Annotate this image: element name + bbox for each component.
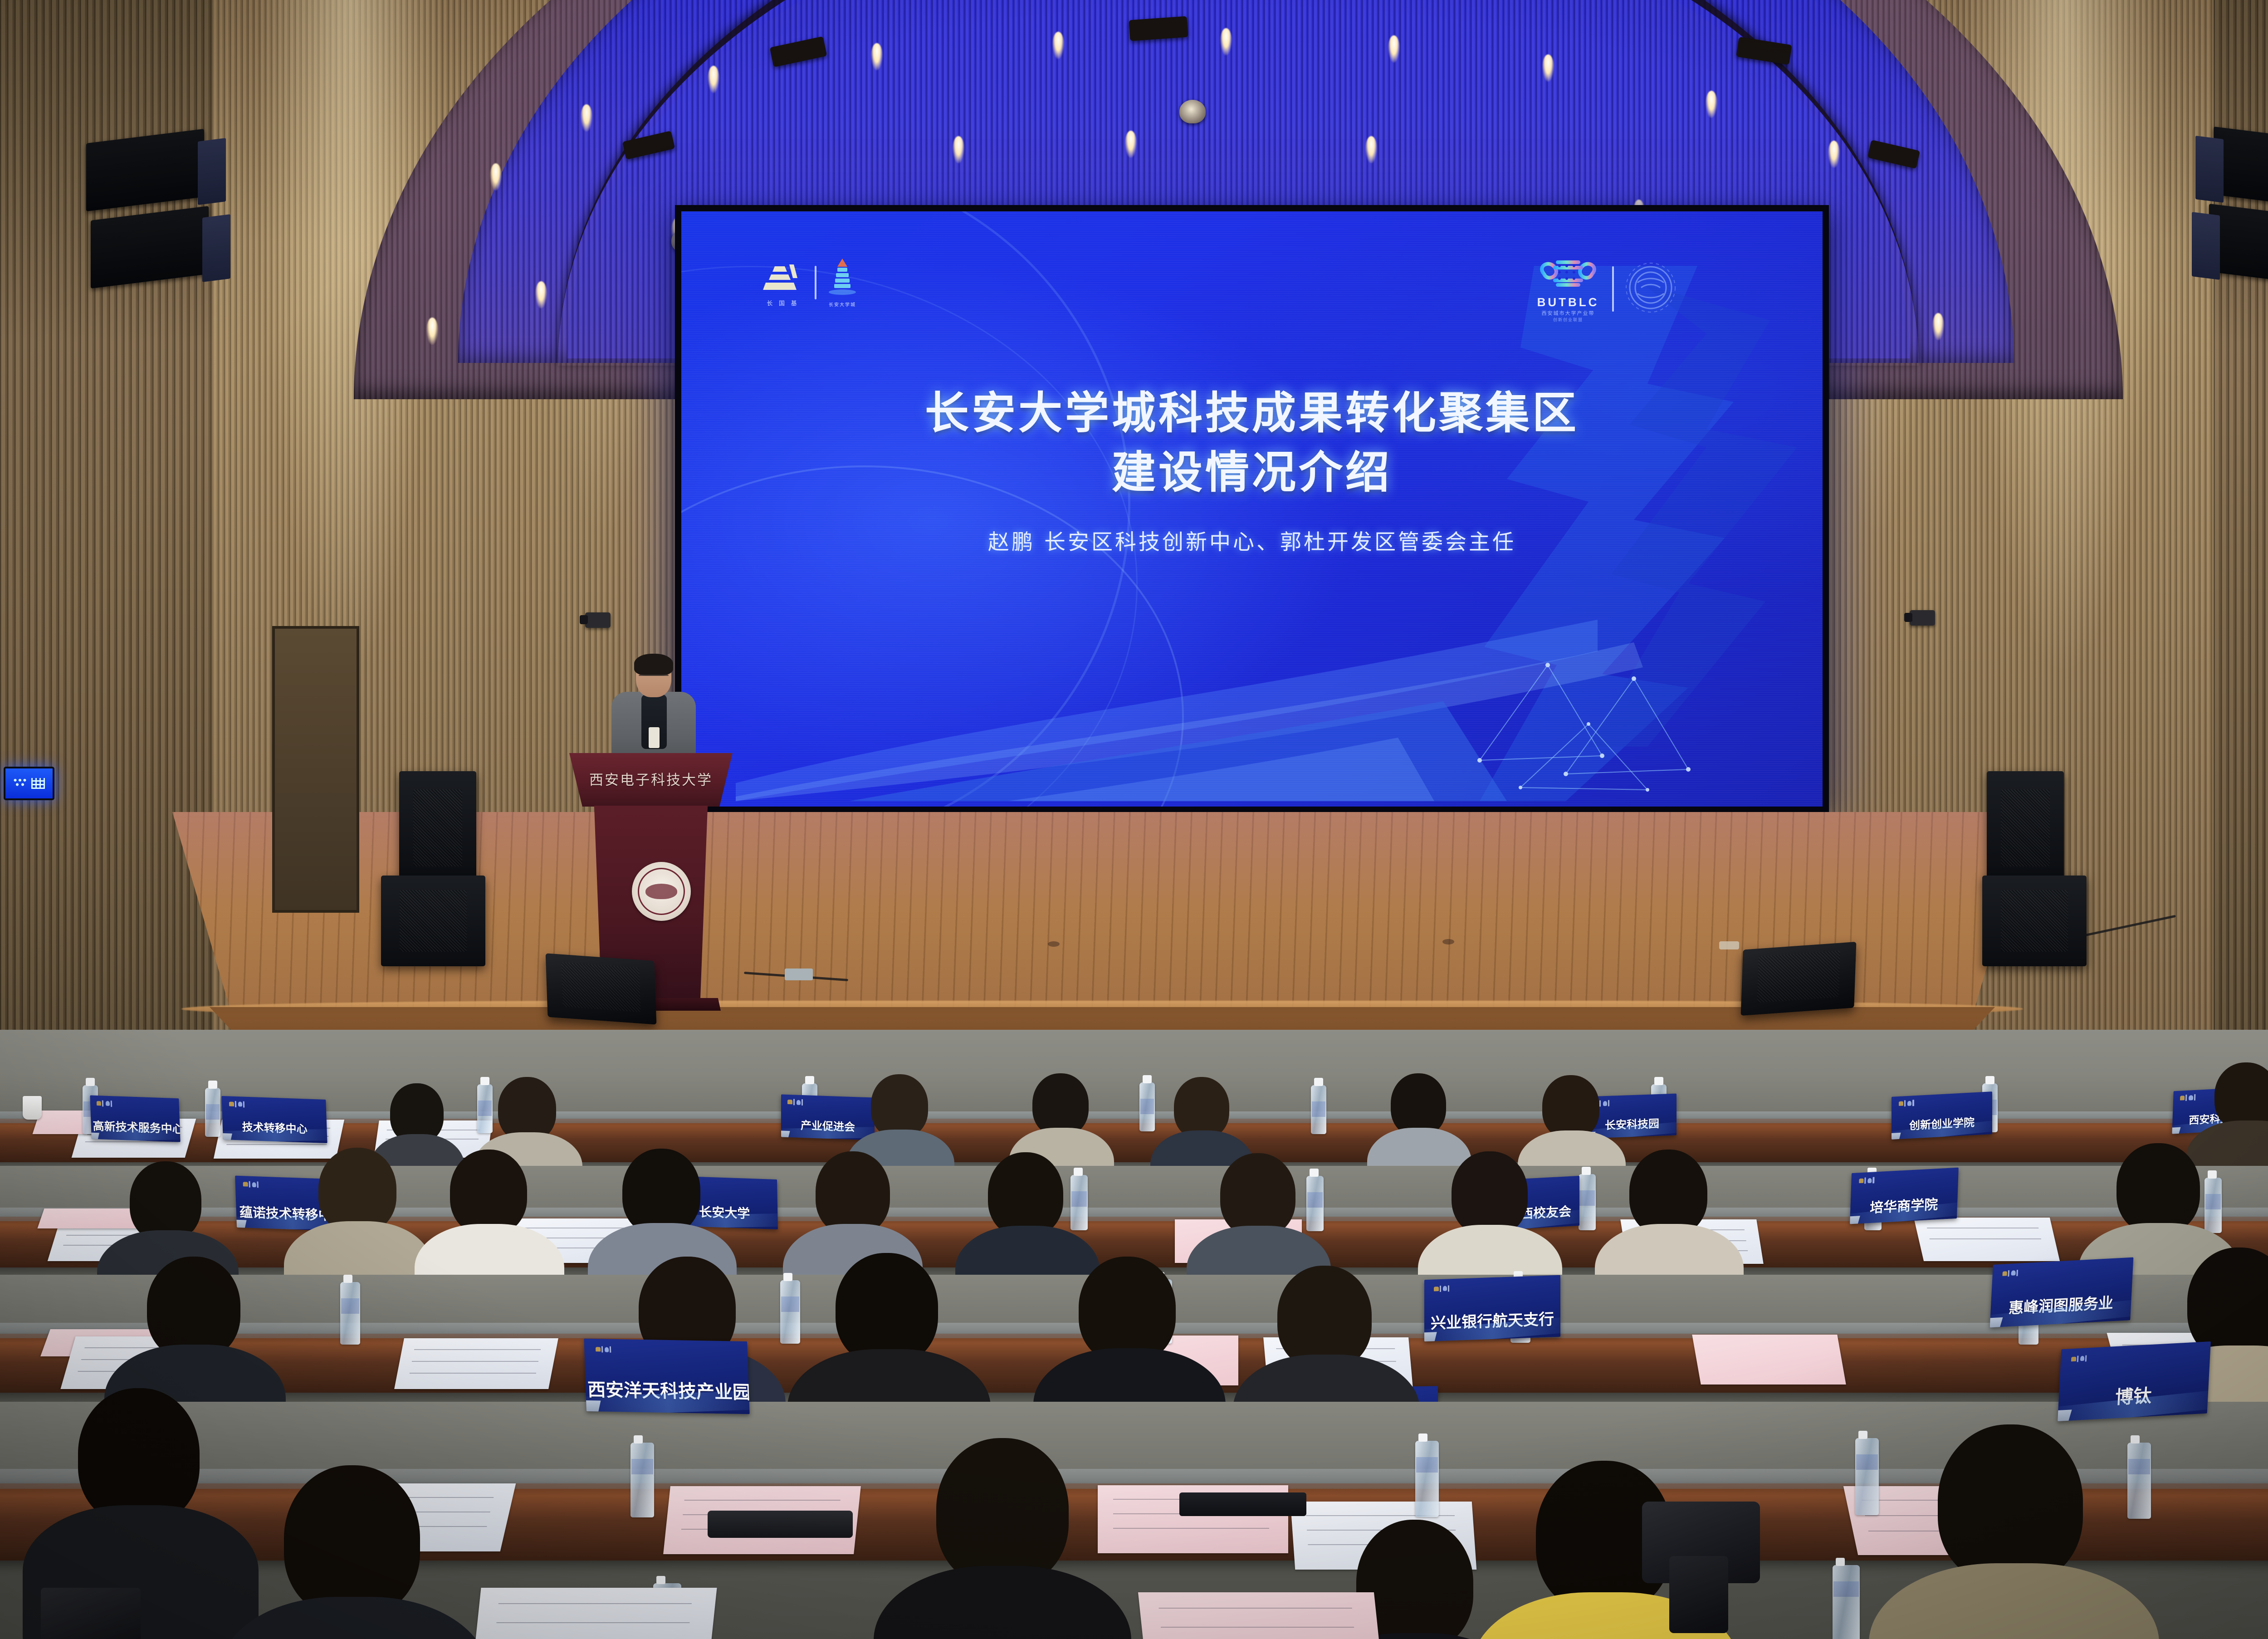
stage-floor-mark: [1719, 941, 1739, 949]
university-seal-emblem: [632, 862, 691, 921]
audience-person: [1601, 1150, 1737, 1296]
audience-person: [889, 1438, 1116, 1639]
side-speaker-right-upper: [1987, 771, 2064, 885]
table-placard: 技术转移中心: [221, 1096, 327, 1143]
water-bottle: [1855, 1438, 1879, 1515]
table-placard: 西安洋天科技产业园: [584, 1339, 749, 1414]
subwoofer-right: [1982, 876, 2087, 966]
table-placard: 惠峰润图服务业: [1990, 1257, 2134, 1328]
slide-subtitle: 赵鹏 长安区科技创新中心、郭杜开发区管委会主任: [681, 524, 1823, 556]
audience-person: [422, 1150, 558, 1295]
slide-logo-group-left: 长 国 基 长安大学城: [761, 258, 858, 308]
table-placard: 培华商学院: [1850, 1168, 1959, 1224]
document-sheet: [1692, 1335, 1846, 1385]
document-sheet: [471, 1588, 717, 1639]
table-placard: 高新技术服务中心: [90, 1095, 180, 1142]
subwoofer-left: [381, 876, 485, 966]
bag-pocket: [1669, 1556, 1728, 1633]
slide-title: 长安大学城科技成果转化聚集区建设情况介绍: [681, 384, 1823, 503]
ceiling-downlight: [426, 318, 438, 345]
ceiling-downlight: [1388, 35, 1400, 63]
audience-seating-area: 高新技术服务中心 技术转移中心 产业促进会 长安科技园 创新创业学院 西安科技大…: [0, 1030, 2268, 1639]
ceiling-downlight: [1706, 91, 1717, 118]
stage-spotlight: [1129, 16, 1188, 41]
slide-network-decor: [1452, 611, 1734, 792]
ceiling-downlight: [581, 104, 592, 132]
ceiling-spotlight-fixture: [1179, 100, 1206, 123]
lectern-university-name: 西安电子科技大学: [569, 768, 733, 789]
logo-university-seal: [1624, 261, 1677, 317]
ceiling-downlight: [490, 163, 502, 191]
paper-cup: [23, 1096, 42, 1120]
laptop-closed: [708, 1511, 853, 1538]
floor-monitor-left: [546, 953, 657, 1024]
ceiling-downlight: [871, 43, 883, 70]
water-bottle: [1579, 1174, 1596, 1230]
audience-person: [1887, 1424, 2141, 1639]
document-sheet: [1138, 1592, 1384, 1639]
line-array-speaker-right: [2195, 129, 2268, 297]
water-bottle: [780, 1280, 800, 1344]
audience-person: [290, 1148, 426, 1293]
logo-pagoda: 长安大学城: [826, 258, 858, 308]
led-screen: 长 国 基 长安大学城: [681, 211, 1823, 807]
exit-sign-grid-icon: [31, 778, 45, 789]
stage-floor-mark: [1442, 939, 1454, 944]
water-bottle: [205, 1088, 220, 1137]
ceiling-downlight: [1052, 32, 1064, 59]
water-bottle: [340, 1282, 360, 1345]
camera-right: [1910, 610, 1935, 626]
ceiling-downlight: [1828, 141, 1840, 168]
led-screen-frame: 长 国 基 长安大学城: [675, 205, 1829, 813]
water-bottle: [1311, 1085, 1326, 1134]
camera-left: [585, 612, 611, 628]
ceiling-downlight: [953, 136, 964, 163]
notebook: [1179, 1492, 1306, 1516]
ceiling-downlight: [1365, 136, 1377, 163]
conference-hall-photo: 长 国 基 长安大学城: [0, 0, 2268, 1639]
logo-divider: [1612, 266, 1614, 312]
water-bottle: [1833, 1565, 1860, 1639]
ceiling-downlight: [1125, 131, 1137, 158]
presenter-person: [603, 656, 703, 764]
ceiling-downlight: [1220, 28, 1232, 55]
table-placard: 兴业银行航天支行: [1424, 1275, 1560, 1341]
ceiling-downlight: [708, 66, 719, 93]
ceiling-downlight: [1932, 313, 1944, 340]
logo-butblc: BUTBLC 西安城市大学产业带 创新创业联盟: [1534, 255, 1602, 323]
ceiling-downlight: [1542, 54, 1554, 82]
water-bottle: [631, 1443, 654, 1517]
stage-floor-plate: [785, 969, 813, 980]
stage-floor-mark: [1048, 941, 1060, 947]
table-placard: 创新创业学院: [1892, 1091, 1992, 1140]
line-array-speaker-left: [86, 132, 245, 299]
exit-sign-dots-icon: [13, 778, 27, 789]
document-sheet: [1914, 1218, 2060, 1261]
exit-sign: [4, 767, 54, 800]
side-door: [272, 626, 359, 913]
water-bottle: [1415, 1441, 1439, 1517]
floor-monitor-right: [1741, 942, 1857, 1016]
slide-logo-group-right: BUTBLC 西安城市大学产业带 创新创业联盟: [1534, 255, 1677, 323]
ceiling-downlight: [535, 281, 547, 308]
logo-changan-pyramid: 长 国 基: [761, 258, 805, 307]
audience-person: [236, 1465, 472, 1639]
table-placard: 博钛: [2058, 1341, 2211, 1421]
tablet-device: [41, 1588, 141, 1639]
document-sheet: [394, 1338, 558, 1389]
side-speaker-left-upper: [399, 771, 476, 885]
logo-divider: [815, 266, 816, 299]
